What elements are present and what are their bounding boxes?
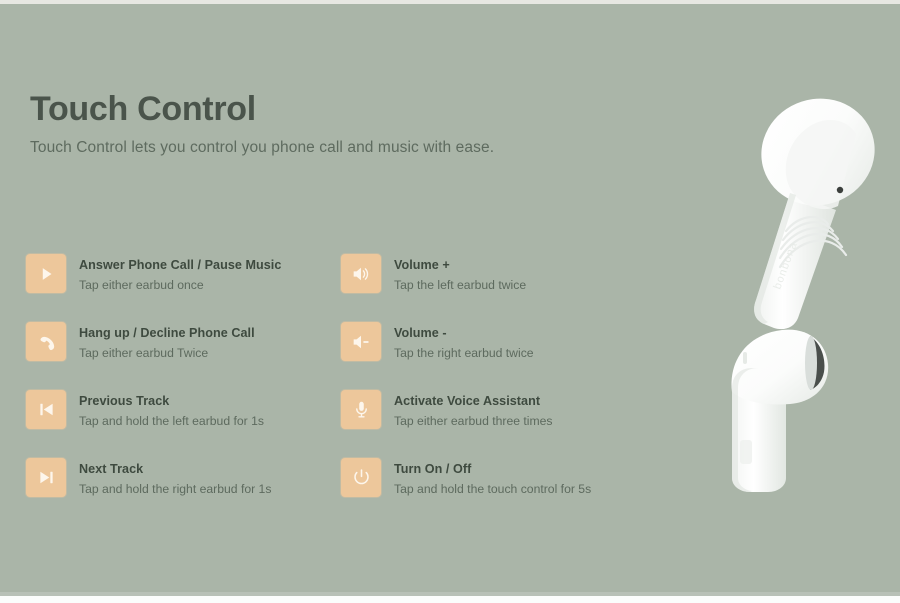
feature-text: Answer Phone Call / Pause Music Tap eith…	[79, 254, 281, 294]
hangup-phone-icon	[35, 330, 58, 353]
touch-control-infographic: Touch Control Touch Control lets you con…	[0, 0, 900, 603]
mic-hole	[837, 187, 843, 193]
heading-block: Touch Control Touch Control lets you con…	[30, 88, 650, 159]
feature-text: Volume + Tap the left earbud twice	[394, 254, 526, 294]
feature-hang-up: Hang up / Decline Phone Call Tap either …	[26, 322, 341, 390]
play-icon	[35, 263, 57, 285]
volume-up-icon	[350, 263, 372, 285]
charging-contact	[740, 440, 752, 464]
feature-description: Tap either earbud three times	[394, 413, 553, 430]
earbud-upright	[731, 330, 828, 492]
feature-description: Tap and hold the left earbud for 1s	[79, 413, 264, 430]
feature-answer-phone-call: Answer Phone Call / Pause Music Tap eith…	[26, 254, 341, 322]
feature-title: Turn On / Off	[394, 462, 471, 476]
microphone-icon	[351, 399, 372, 420]
next-track-icon	[36, 467, 57, 488]
volume-down-icon-tile	[341, 322, 381, 361]
feature-text: Volume - Tap the right earbud twice	[394, 322, 534, 362]
microphone-icon-tile	[341, 390, 381, 429]
previous-track-icon	[36, 399, 57, 420]
feature-title: Answer Phone Call / Pause Music	[79, 258, 281, 272]
feature-title: Previous Track	[79, 394, 169, 408]
feature-title: Next Track	[79, 462, 143, 476]
feature-text: Next Track Tap and hold the right earbud…	[79, 458, 271, 498]
feature-text: Previous Track Tap and hold the left ear…	[79, 390, 264, 430]
feature-description: Tap and hold the right earbud for 1s	[79, 481, 271, 498]
earbud-tilted: bonbona	[747, 84, 888, 329]
feature-title: Volume -	[394, 326, 447, 340]
earbuds-artwork: bonbona	[640, 0, 900, 603]
volume-up-icon-tile	[341, 254, 381, 293]
power-icon-tile	[341, 458, 381, 497]
page-subtitle: Touch Control lets you control you phone…	[30, 137, 650, 159]
sensor-mark	[743, 352, 747, 364]
feature-text: Turn On / Off Tap and hold the touch con…	[394, 458, 591, 498]
previous-track-icon-tile	[26, 390, 66, 429]
power-icon	[351, 467, 372, 488]
feature-description: Tap and hold the touch control for 5s	[394, 481, 591, 498]
feature-volume-down: Volume - Tap the right earbud twice	[341, 322, 656, 390]
next-track-icon-tile	[26, 458, 66, 497]
feature-description: Tap either earbud once	[79, 277, 281, 294]
feature-description: Tap either earbud Twice	[79, 345, 255, 362]
feature-title: Activate Voice Assistant	[394, 394, 540, 408]
feature-grid: Answer Phone Call / Pause Music Tap eith…	[26, 254, 656, 526]
feature-text: Hang up / Decline Phone Call Tap either …	[79, 322, 255, 362]
hangup-phone-icon-tile	[26, 322, 66, 361]
volume-down-icon	[350, 331, 372, 353]
feature-text: Activate Voice Assistant Tap either earb…	[394, 390, 553, 430]
feature-title: Volume +	[394, 258, 450, 272]
feature-description: Tap the left earbud twice	[394, 277, 526, 294]
feature-volume-up: Volume + Tap the left earbud twice	[341, 254, 656, 322]
feature-title: Hang up / Decline Phone Call	[79, 326, 255, 340]
play-icon-tile	[26, 254, 66, 293]
feature-description: Tap the right earbud twice	[394, 345, 534, 362]
feature-voice-assistant: Activate Voice Assistant Tap either earb…	[341, 390, 656, 458]
bottom-edge-strip	[0, 596, 900, 603]
feature-turn-on-off: Turn On / Off Tap and hold the touch con…	[341, 458, 656, 526]
page-title: Touch Control	[30, 88, 650, 130]
feature-previous-track: Previous Track Tap and hold the left ear…	[26, 390, 341, 458]
feature-next-track: Next Track Tap and hold the right earbud…	[26, 458, 341, 526]
